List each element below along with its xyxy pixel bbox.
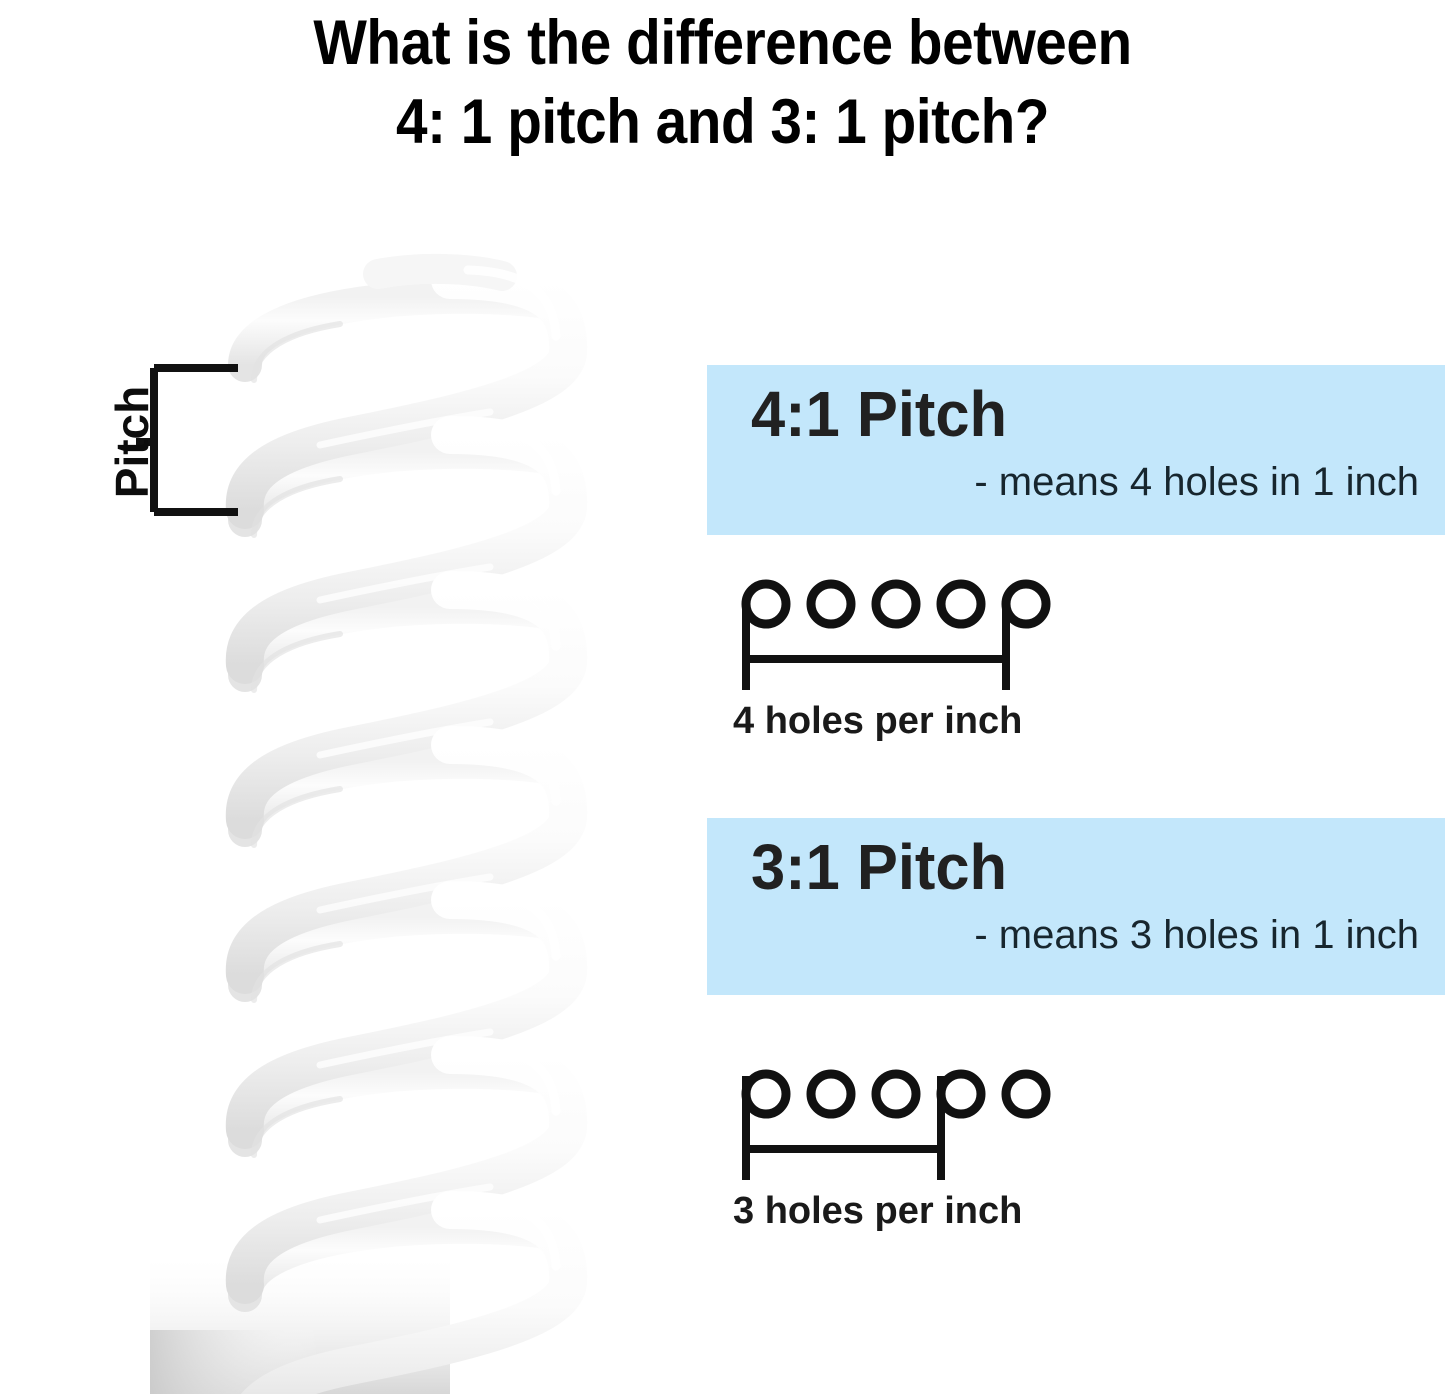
infographic-page: What is the difference between 4: 1 pitc…: [0, 0, 1445, 1394]
three-holes-per-inch-icon: [728, 1052, 1068, 1192]
pitch-label: Pitch: [42, 352, 222, 532]
heading-3-1-pitch: 3:1 Pitch: [751, 834, 1392, 901]
holes-diagram-3-1: 3 holes per inch: [728, 1052, 1068, 1233]
heading-4-1-pitch: 4:1 Pitch: [751, 381, 1392, 448]
subtext-3-1-pitch: - means 3 holes in 1 inch: [751, 913, 1419, 958]
four-holes-per-inch-icon: [728, 562, 1068, 702]
panel-4-1-pitch: 4:1 Pitch - means 4 holes in 1 inch: [707, 365, 1445, 535]
page-title: What is the difference between 4: 1 pitc…: [72, 4, 1373, 163]
caption-4-holes-per-inch: 4 holes per inch: [733, 700, 1068, 743]
subtext-4-1-pitch: - means 4 holes in 1 inch: [751, 460, 1419, 505]
panel-3-1-pitch: 3:1 Pitch - means 3 holes in 1 inch: [707, 818, 1445, 995]
holes-diagram-4-1: 4 holes per inch: [728, 562, 1068, 743]
caption-3-holes-per-inch: 3 holes per inch: [733, 1190, 1068, 1233]
